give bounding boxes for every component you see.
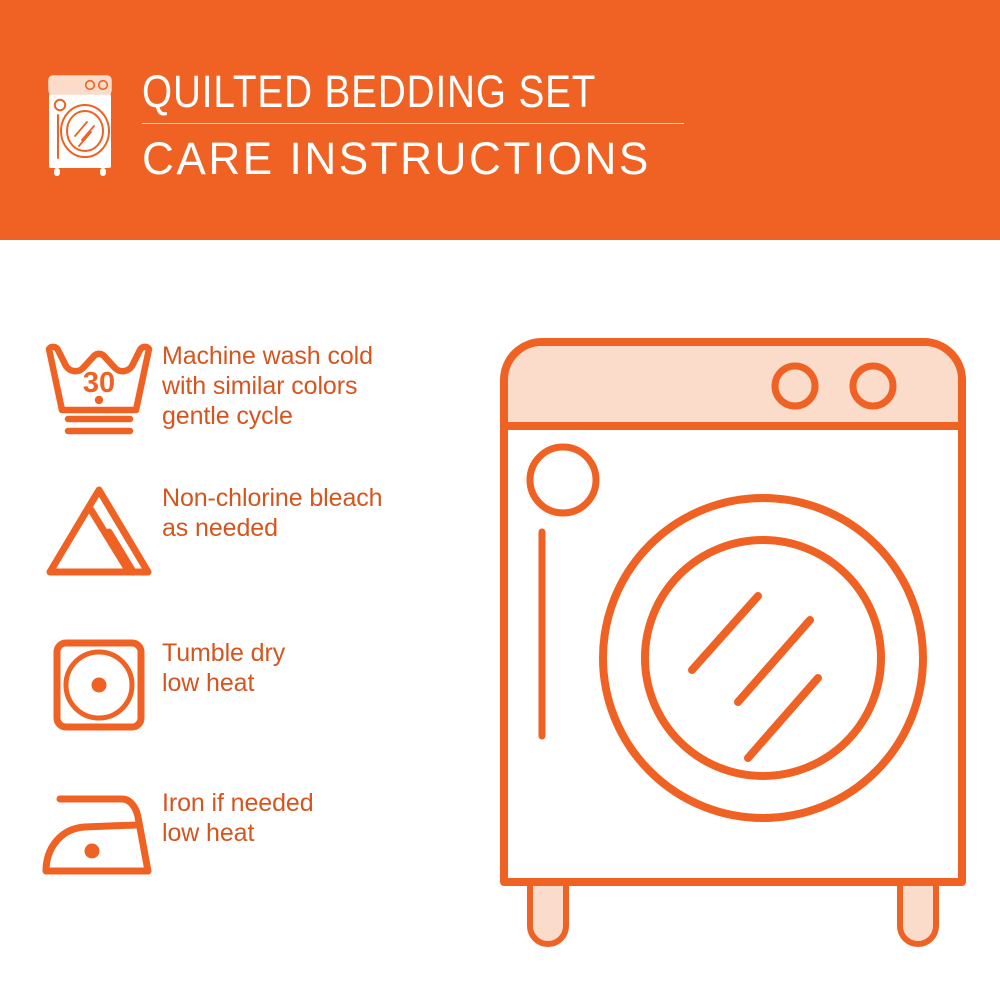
care-line: with similar colors bbox=[162, 371, 373, 401]
large-washing-machine-illustration bbox=[480, 320, 1000, 960]
leg-right bbox=[900, 880, 936, 944]
care-instruction-list: 30 Machine wash cold with similar colors… bbox=[0, 240, 470, 1000]
care-line: low heat bbox=[162, 668, 285, 698]
care-line: Machine wash cold bbox=[162, 341, 373, 371]
care-line: as needed bbox=[162, 513, 382, 543]
care-row-bleach: Non-chlorine bleach as needed bbox=[0, 480, 470, 580]
leg-left bbox=[530, 880, 566, 944]
header-title-block: QUILTED BEDDING SET CARE INSTRUCTIONS bbox=[142, 68, 702, 184]
care-label-tumble-dry: Tumble dry low heat bbox=[162, 635, 285, 698]
care-line: Non-chlorine bleach bbox=[162, 483, 382, 513]
care-line: low heat bbox=[162, 818, 314, 848]
wash-temperature-label: 30 bbox=[83, 367, 115, 399]
care-row-tumble-dry: Tumble dry low heat bbox=[0, 635, 470, 735]
care-label-machine-wash: Machine wash cold with similar colors ge… bbox=[162, 338, 373, 431]
care-line: Tumble dry bbox=[162, 638, 285, 668]
wash-tub-30-gentle-icon: 30 bbox=[40, 338, 158, 438]
care-line: gentle cycle bbox=[162, 401, 373, 431]
care-row-machine-wash: 30 Machine wash cold with similar colors… bbox=[0, 338, 470, 438]
care-label-iron: Iron if needed low heat bbox=[162, 785, 314, 848]
page-title: QUILTED BEDDING SET bbox=[142, 68, 624, 116]
page-subtitle: CARE INSTRUCTIONS bbox=[142, 134, 691, 184]
care-row-iron: Iron if needed low heat bbox=[0, 785, 470, 885]
header-banner: QUILTED BEDDING SET CARE INSTRUCTIONS bbox=[0, 0, 1000, 240]
care-label-bleach: Non-chlorine bleach as needed bbox=[162, 480, 382, 543]
tumble-dry-low-heat-icon bbox=[40, 635, 158, 735]
care-line: Iron if needed bbox=[162, 788, 314, 818]
iron-low-heat-icon bbox=[40, 785, 158, 885]
title-divider bbox=[142, 123, 684, 124]
washing-machine-icon bbox=[44, 72, 118, 176]
non-chlorine-bleach-triangle-icon bbox=[40, 480, 158, 580]
